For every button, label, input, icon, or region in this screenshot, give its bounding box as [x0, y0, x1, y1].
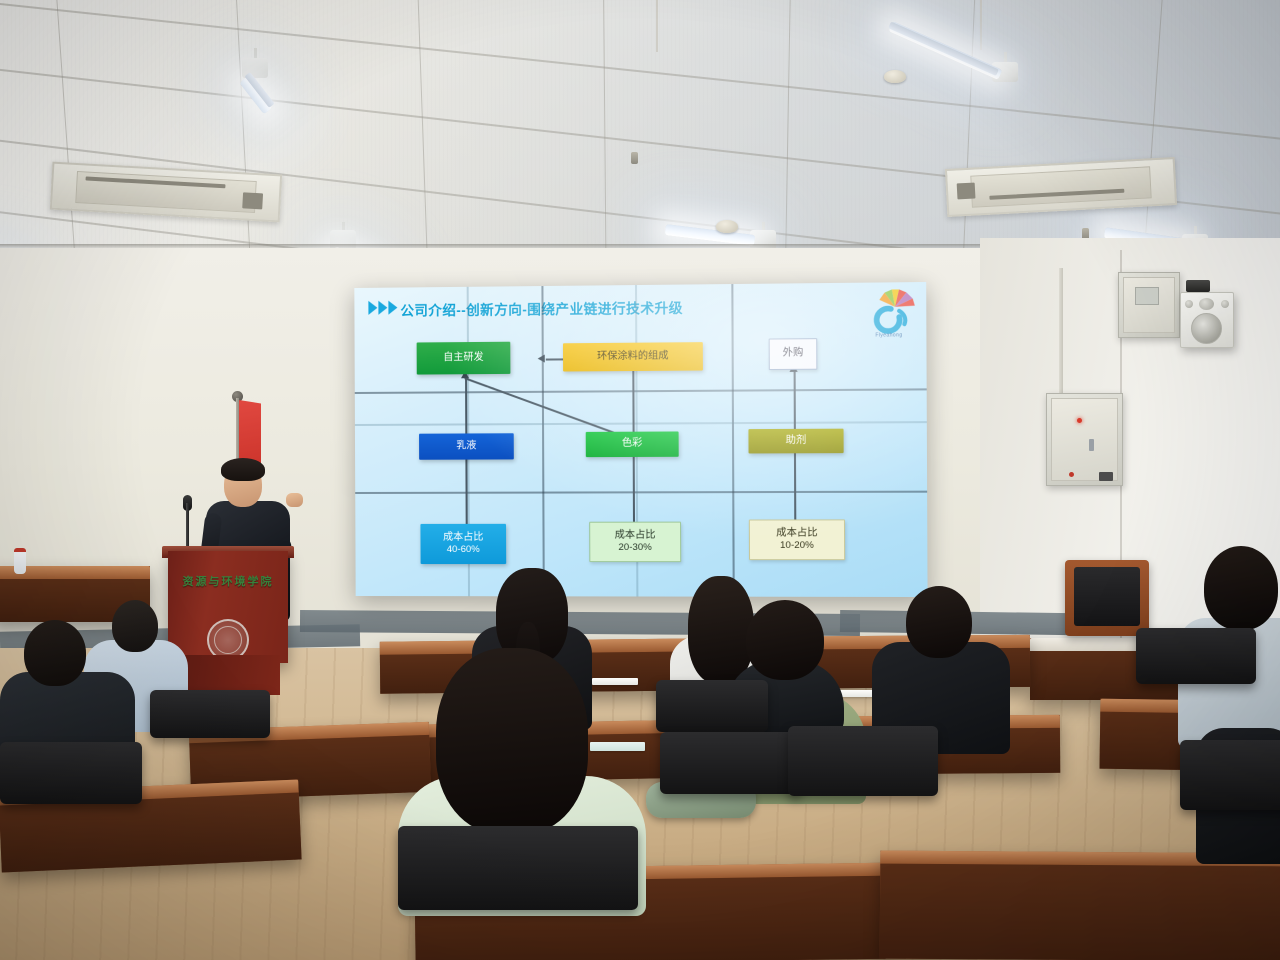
speaker-tweeter-icon [1221, 300, 1229, 308]
status-led [1069, 472, 1074, 477]
chair-back[interactable] [656, 680, 768, 732]
presentation-slide: 公司介绍--创新方向-围绕产业链进行技术升级 Flyeahong [354, 282, 927, 597]
speaker-bracket [1186, 280, 1210, 292]
chair-back[interactable] [660, 732, 802, 794]
slide-box-cost-emulsion: 成本占比 40-60% [420, 524, 506, 564]
slide-box-color: 色彩 [586, 431, 679, 457]
audience-member [872, 586, 1010, 746]
status-led [1077, 418, 1082, 423]
podium-base [176, 655, 280, 695]
logo-caption: Flyeahong [875, 332, 902, 338]
connector-line [633, 453, 635, 526]
ceiling-wire [980, 0, 982, 50]
smoke-detector-icon [884, 70, 906, 83]
person-head [24, 620, 86, 686]
wooden-armchair[interactable] [1065, 560, 1149, 636]
slide-box-label: 外购 [783, 348, 804, 361]
connector-line [632, 371, 634, 439]
power-distribution-box [1046, 393, 1123, 486]
classroom-scene: 公司介绍--创新方向-围绕产业链进行技术升级 Flyeahong [0, 0, 1280, 960]
electrical-control-panel [1118, 272, 1180, 338]
wall-speaker [1180, 292, 1234, 348]
slide-box-value: 10-20% [780, 540, 814, 552]
slide-box-label: 成本占比 [443, 532, 483, 545]
arrow-left-icon [538, 355, 545, 363]
ceiling-wire [656, 0, 658, 52]
person-head [746, 600, 824, 680]
desk-row [880, 851, 1280, 960]
podium-institution-name: 资源与环境学院 [183, 573, 274, 589]
slide-box-label: 成本占比 [615, 530, 656, 543]
chair-back[interactable] [1180, 740, 1280, 810]
connector-line [465, 379, 467, 439]
smoke-detector-icon [716, 220, 738, 233]
presenter-hair [221, 458, 265, 481]
speaker-woofer-icon [1191, 313, 1222, 344]
person-hair [436, 648, 588, 834]
projection-video-wall[interactable]: 公司介绍--创新方向-围绕产业链进行技术升级 Flyeahong [354, 282, 927, 597]
slide-box-cost-color: 成本占比 20-30% [589, 522, 681, 563]
person-head [1204, 546, 1278, 630]
slide-box-label: 环保涂料的组成 [597, 350, 669, 363]
chair-back[interactable] [398, 826, 638, 910]
slide-box-emulsion: 乳液 [419, 433, 514, 460]
panel-bezel-horizontal [355, 388, 927, 394]
panel-bezel-vertical [731, 284, 734, 597]
person-head [906, 586, 972, 658]
slide-box-self-rd: 自主研发 [417, 342, 511, 375]
slide-box-cost-additive: 成本占比 10-20% [749, 519, 845, 560]
speaker-tweeter-icon [1199, 298, 1214, 310]
slide-box-label: 助剂 [786, 435, 807, 448]
sprinkler-head-icon [631, 152, 638, 164]
slide-box-label: 色彩 [622, 438, 642, 451]
logo-artwork-icon [860, 286, 919, 336]
connector-line [794, 452, 796, 525]
chair-back[interactable] [1136, 628, 1256, 684]
water-bottle [14, 548, 26, 574]
connector-line [546, 358, 563, 360]
chair-back[interactable] [150, 690, 270, 738]
slide-box-additive: 助剂 [748, 429, 843, 454]
panel-bezel-horizontal [355, 491, 927, 494]
slide-box-composition: 环保涂料的组成 [563, 342, 703, 371]
slide-box-label: 成本占比 [776, 527, 817, 540]
slide-box-label: 自主研发 [443, 352, 483, 365]
presenter-hand [286, 493, 303, 507]
panel-bezel-vertical [541, 286, 544, 596]
chair-back[interactable] [0, 742, 142, 804]
chevron-right-icon [368, 301, 397, 315]
chair-back[interactable] [788, 726, 938, 796]
slide-box-outsourced: 外购 [769, 338, 818, 370]
slide-box-value: 40-60% [447, 544, 480, 556]
company-logo: Flyeahong [860, 286, 919, 340]
slide-box-value: 20-30% [618, 542, 651, 554]
connector-line [464, 377, 632, 440]
panel-bezel-horizontal [355, 421, 927, 426]
slide-box-label: 乳液 [456, 440, 476, 453]
speaker-tweeter-icon [1185, 300, 1193, 308]
